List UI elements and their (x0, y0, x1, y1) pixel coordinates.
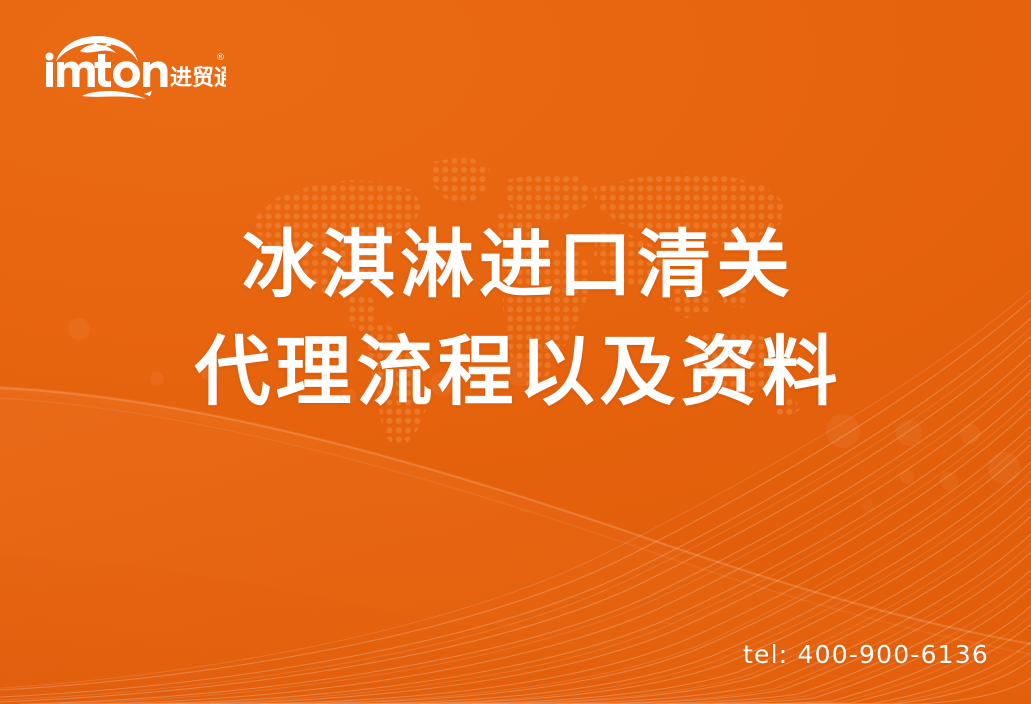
logo-chinese-name: 进贸通 (170, 66, 226, 91)
headline-line-2: 代理流程以及资料 (0, 334, 1031, 410)
headline: 冰淇淋进口清关 代理流程以及资料 (0, 228, 1031, 410)
brand-logo[interactable]: 进贸通 ® (36, 32, 226, 104)
trademark-icon: ® (216, 53, 225, 63)
headline-line-1: 冰淇淋进口清关 (0, 228, 1031, 302)
contact-telephone[interactable]: tel: 400-900-6136 (743, 640, 989, 669)
promo-banner: 进贸通 ® 冰淇淋进口清关 代理流程以及资料 tel: 400-900-6136 (0, 0, 1031, 704)
